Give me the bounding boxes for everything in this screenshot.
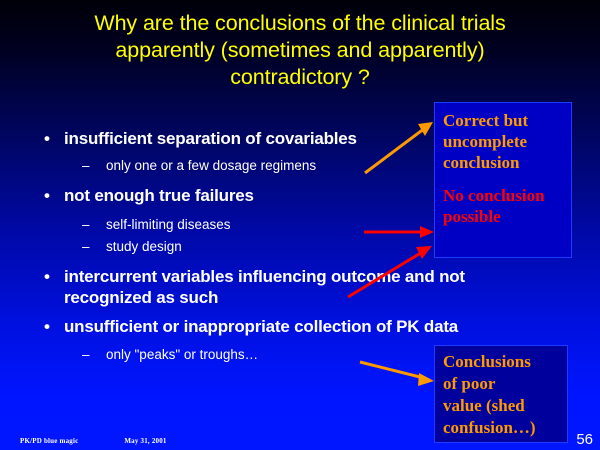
dash-marker-icon: – — [82, 346, 90, 364]
callout-line: confusion…) — [443, 417, 567, 439]
bullet-text: insufficient separation of covariables — [64, 129, 357, 148]
footer-date: May 31, 2001 — [124, 437, 166, 445]
bullet-text: self-limiting diseases — [106, 217, 231, 232]
bullet-text: unsufficient or inappropriate collection… — [64, 317, 458, 336]
bullet-text: intercurrent variables influencing outco… — [64, 267, 465, 307]
slide-title: Why are the conclusions of the clinical … — [30, 10, 570, 91]
bullet-text: only one or a few dosage regimens — [106, 158, 316, 173]
slide-title-line-2: apparently (sometimes and apparently) — [30, 37, 570, 64]
callout-orange-line: conclusion — [443, 152, 571, 173]
dash-marker-icon: – — [82, 216, 90, 234]
bullet-marker-icon: • — [44, 316, 50, 337]
slide-footer: PK/PD blue magic May 31, 2001 — [20, 437, 167, 445]
callout-spacer — [443, 173, 571, 185]
callout-red-line: possible — [443, 206, 571, 227]
orange-arrow-to-conclusions-of-poor-value-icon — [360, 362, 434, 386]
bullet-marker-icon: • — [44, 185, 50, 206]
callout-orange-line: uncomplete — [443, 131, 571, 152]
dash-marker-icon: – — [82, 157, 90, 175]
slide-title-line-1: Why are the conclusions of the clinical … — [30, 10, 570, 37]
callout-box-conclusions: Correct but uncomplete conclusion No con… — [434, 102, 572, 258]
bullet-marker-icon: • — [44, 128, 50, 149]
callout-line: value (shed — [443, 395, 567, 417]
callout-red-line: No conclusion — [443, 185, 571, 206]
dash-marker-icon: – — [82, 238, 90, 256]
page-number: 56 — [576, 431, 593, 448]
slide-title-line-3: contradictory ? — [30, 64, 570, 91]
bullet-item-level1: • intercurrent variables influencing out… — [40, 266, 510, 308]
bullet-item-level1: • unsufficient or inappropriate collecti… — [40, 316, 510, 337]
bullet-text: only "peaks" or troughs… — [106, 347, 258, 362]
callout-line: of poor — [443, 373, 567, 395]
callout-box-poor-value: Conclusions of poor value (shed confusio… — [434, 345, 568, 443]
footer-source: PK/PD blue magic — [20, 437, 78, 445]
presentation-slide: Why are the conclusions of the clinical … — [0, 0, 600, 450]
callout-orange-line: Correct but — [443, 110, 571, 131]
bullet-text: study design — [106, 239, 182, 254]
callout-line: Conclusions — [443, 351, 567, 373]
bullet-text: not enough true failures — [64, 186, 254, 205]
bullet-marker-icon: • — [44, 266, 50, 287]
